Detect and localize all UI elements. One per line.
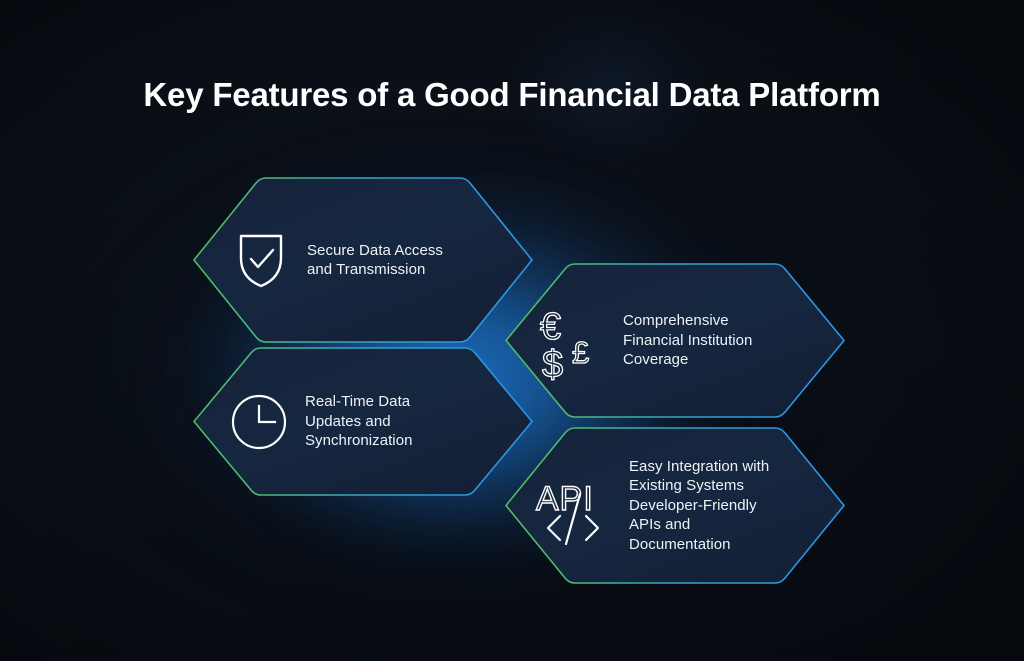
svg-text:£: £ bbox=[572, 335, 589, 370]
card-label: Comprehensive Financial Institution Cove… bbox=[623, 311, 752, 370]
card-label: Secure Data Access and Transmission bbox=[307, 241, 443, 280]
clock-icon bbox=[227, 386, 291, 458]
card-label: Easy Integration with Existing Systems D… bbox=[629, 457, 769, 555]
svg-text:€: € bbox=[540, 306, 561, 348]
api-code-icon: API bbox=[533, 464, 615, 548]
card-label: Real-Time Data Updates and Synchronizati… bbox=[305, 392, 412, 451]
card-body: Secure Data Access and Transmission bbox=[229, 177, 519, 343]
card-body: API Easy Integration with Existing Syste… bbox=[533, 427, 835, 584]
feature-card-real-time-data[interactable]: Real-Time Data Updates and Synchronizati… bbox=[193, 347, 533, 496]
card-body: € £ $ Comprehensive Financial Institutio… bbox=[535, 263, 835, 418]
svg-text:API: API bbox=[536, 480, 594, 518]
page-title: Key Features of a Good Financial Data Pl… bbox=[0, 76, 1024, 114]
feature-card-easy-integration[interactable]: API Easy Integration with Existing Syste… bbox=[505, 427, 845, 584]
currency-symbols-icon: € £ $ bbox=[535, 305, 609, 377]
feature-card-financial-coverage[interactable]: € £ $ Comprehensive Financial Institutio… bbox=[505, 263, 845, 418]
infographic-canvas: Key Features of a Good Financial Data Pl… bbox=[0, 0, 1024, 661]
card-body: Real-Time Data Updates and Synchronizati… bbox=[227, 347, 519, 496]
svg-text:$: $ bbox=[542, 344, 563, 381]
shield-check-icon bbox=[229, 224, 293, 296]
feature-card-secure-data-access[interactable]: Secure Data Access and Transmission bbox=[193, 177, 533, 343]
